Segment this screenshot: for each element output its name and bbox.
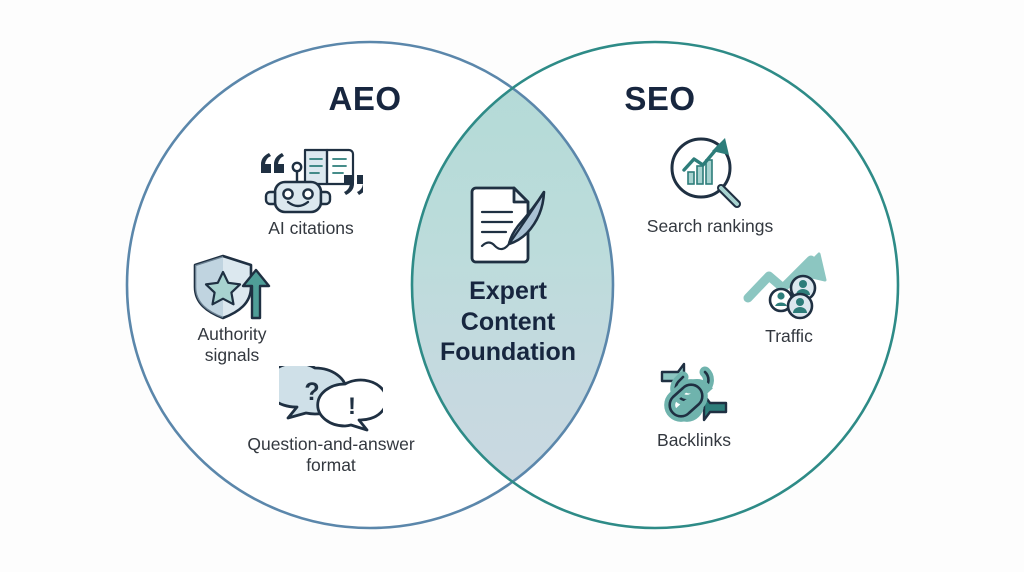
shield-star-arrow-icon	[117, 252, 347, 322]
right-circle-title: SEO	[624, 80, 695, 118]
document-quill-icon	[398, 184, 618, 266]
feature-label: Authority signals	[117, 324, 347, 365]
feature-ai-citations[interactable]: AI citations	[196, 140, 426, 239]
overlap-label: Expert Content Foundation	[398, 276, 618, 368]
overlap-intersection-block[interactable]: Expert Content Foundation	[398, 184, 618, 368]
feature-authority-signals[interactable]: Authority signals	[117, 252, 347, 365]
arrow-up-users-icon	[674, 252, 904, 324]
feature-qa-format[interactable]: ? ! Question-and-answer format	[216, 366, 446, 475]
chain-links-arrows-icon	[579, 358, 809, 428]
feature-label: Question-and-answer format	[216, 434, 446, 475]
feature-traffic[interactable]: Traffic	[674, 252, 904, 347]
magnifier-growth-chart-icon	[595, 134, 825, 214]
feature-label: Search rankings	[595, 216, 825, 237]
feature-label: Traffic	[674, 326, 904, 347]
robot-book-quote-icon	[196, 140, 426, 216]
speech-bubbles-qa-icon: ? !	[216, 366, 446, 432]
feature-backlinks[interactable]: Backlinks	[579, 358, 809, 451]
feature-label: AI citations	[196, 218, 426, 239]
feature-search-rankings[interactable]: Search rankings	[595, 134, 825, 237]
svg-text:!: !	[348, 393, 356, 420]
feature-label: Backlinks	[579, 430, 809, 451]
left-circle-title: AEO	[328, 80, 401, 118]
